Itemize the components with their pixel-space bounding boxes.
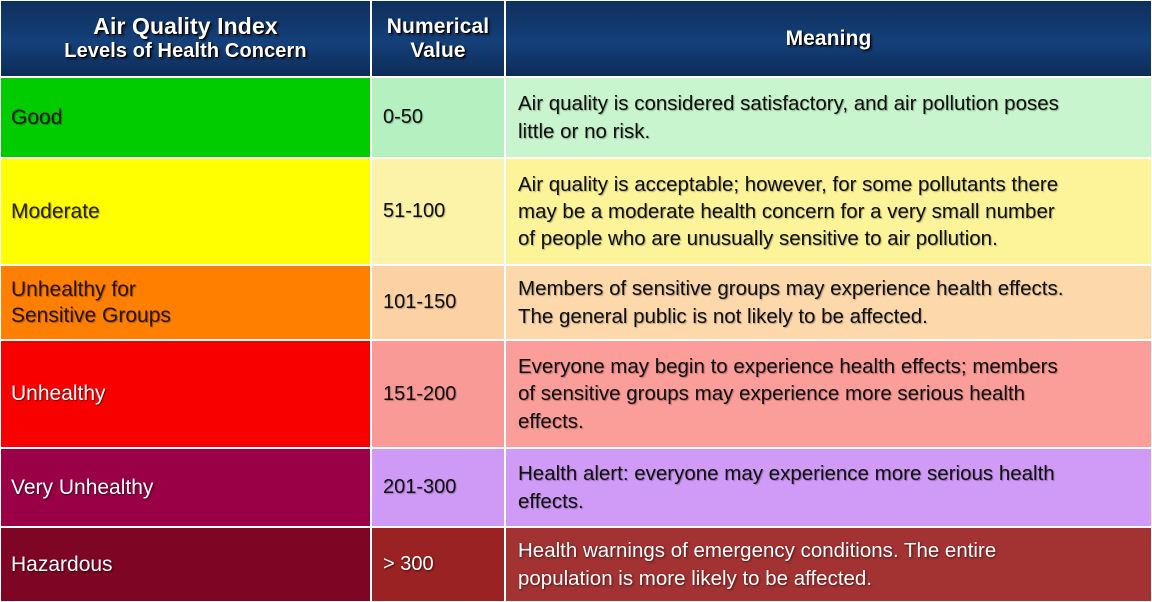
value-cell-unhealthy: 151-200	[371, 340, 505, 448]
meaning-cell-hazardous: Health warnings of emergency conditions.…	[505, 527, 1152, 602]
value-cell-hazardous: > 300	[371, 527, 505, 602]
meaning-text: Health warnings of emergency conditions.…	[506, 537, 1151, 591]
table-header-row: Air Quality Index Levels of Health Conce…	[0, 0, 1152, 77]
header-value-line2: Value	[410, 39, 465, 63]
level-cell-moderate: Moderate	[0, 158, 371, 265]
header-level-line2: Levels of Health Concern	[64, 40, 306, 62]
level-label: Moderate	[1, 199, 370, 225]
meaning-cell-very-unhealthy: Health alert: everyone may experience mo…	[505, 448, 1152, 527]
level-label: Good	[1, 105, 370, 131]
value-label: 201-300	[372, 476, 504, 499]
meaning-line-3: of people who are unusually sensitive to…	[518, 225, 1141, 252]
header-meaning-label: Meaning	[786, 27, 872, 51]
level-label: Unhealthy	[1, 381, 370, 407]
value-label: 51-100	[372, 200, 504, 223]
level-cell-hazardous: Hazardous	[0, 527, 371, 602]
meaning-cell-moderate: Air quality is acceptable; however, for …	[505, 158, 1152, 265]
meaning-text: Air quality is considered satisfactory, …	[506, 90, 1151, 144]
meaning-line-2: population is more likely to be affected…	[518, 565, 1141, 592]
level-cell-very-unhealthy: Very Unhealthy	[0, 448, 371, 527]
meaning-line-1: Air quality is considered satisfactory, …	[518, 90, 1141, 117]
meaning-cell-good: Air quality is considered satisfactory, …	[505, 77, 1152, 158]
level-label: Unhealthy for Sensitive Groups	[1, 277, 370, 328]
level-cell-unhealthy-sensitive-groups: Unhealthy for Sensitive Groups	[0, 265, 371, 340]
meaning-line-1: Health alert: everyone may experience mo…	[518, 460, 1141, 487]
meaning-cell-unhealthy: Everyone may begin to experience health …	[505, 340, 1152, 448]
air-quality-index-table: Air Quality Index Levels of Health Conce…	[0, 0, 1152, 602]
meaning-line-1: Everyone may begin to experience health …	[518, 353, 1141, 380]
value-cell-unhealthy-sensitive-groups: 101-150	[371, 265, 505, 340]
meaning-cell-unhealthy-sensitive-groups: Members of sensitive groups may experien…	[505, 265, 1152, 340]
table-row: Unhealthy for Sensitive Groups 101-150 M…	[0, 265, 1152, 340]
meaning-text: Members of sensitive groups may experien…	[506, 275, 1151, 329]
table-row: Hazardous > 300 Health warnings of emerg…	[0, 527, 1152, 602]
level-label: Very Unhealthy	[1, 475, 370, 501]
meaning-text: Air quality is acceptable; however, for …	[506, 171, 1151, 252]
meaning-line-2: little or no risk.	[518, 118, 1141, 145]
value-label: > 300	[372, 553, 504, 576]
value-cell-very-unhealthy: 201-300	[371, 448, 505, 527]
meaning-line-2: may be a moderate health concern for a v…	[518, 198, 1141, 225]
level-label-line-1: Unhealthy for	[11, 277, 370, 303]
meaning-text: Everyone may begin to experience health …	[506, 353, 1151, 434]
meaning-text: Health alert: everyone may experience mo…	[506, 460, 1151, 514]
table-row: Very Unhealthy 201-300 Health alert: eve…	[0, 448, 1152, 527]
value-cell-good: 0-50	[371, 77, 505, 158]
level-label-line-2: Sensitive Groups	[11, 303, 370, 329]
table-row: Moderate 51-100 Air quality is acceptabl…	[0, 158, 1152, 265]
meaning-line-1: Health warnings of emergency conditions.…	[518, 537, 1141, 564]
meaning-line-1: Members of sensitive groups may experien…	[518, 275, 1141, 302]
meaning-line-3: effects.	[518, 408, 1141, 435]
meaning-line-2: effects.	[518, 488, 1141, 515]
value-label: 0-50	[372, 106, 504, 129]
level-label: Hazardous	[1, 552, 370, 578]
table-row: Good 0-50 Air quality is considered sati…	[0, 77, 1152, 158]
meaning-line-2: of sensitive groups may experience more …	[518, 380, 1141, 407]
header-level-line1: Air Quality Index	[93, 14, 277, 40]
level-cell-unhealthy: Unhealthy	[0, 340, 371, 448]
value-label: 101-150	[372, 291, 504, 314]
header-value-line1: Numerical	[387, 15, 489, 39]
meaning-line-1: Air quality is acceptable; however, for …	[518, 171, 1141, 198]
header-cell-numerical-value: Numerical Value	[371, 0, 505, 77]
level-cell-good: Good	[0, 77, 371, 158]
value-label: 151-200	[372, 383, 504, 406]
header-cell-level: Air Quality Index Levels of Health Conce…	[0, 0, 371, 77]
header-cell-meaning: Meaning	[505, 0, 1152, 77]
table-row: Unhealthy 151-200 Everyone may begin to …	[0, 340, 1152, 448]
meaning-line-2: The general public is not likely to be a…	[518, 303, 1141, 330]
value-cell-moderate: 51-100	[371, 158, 505, 265]
